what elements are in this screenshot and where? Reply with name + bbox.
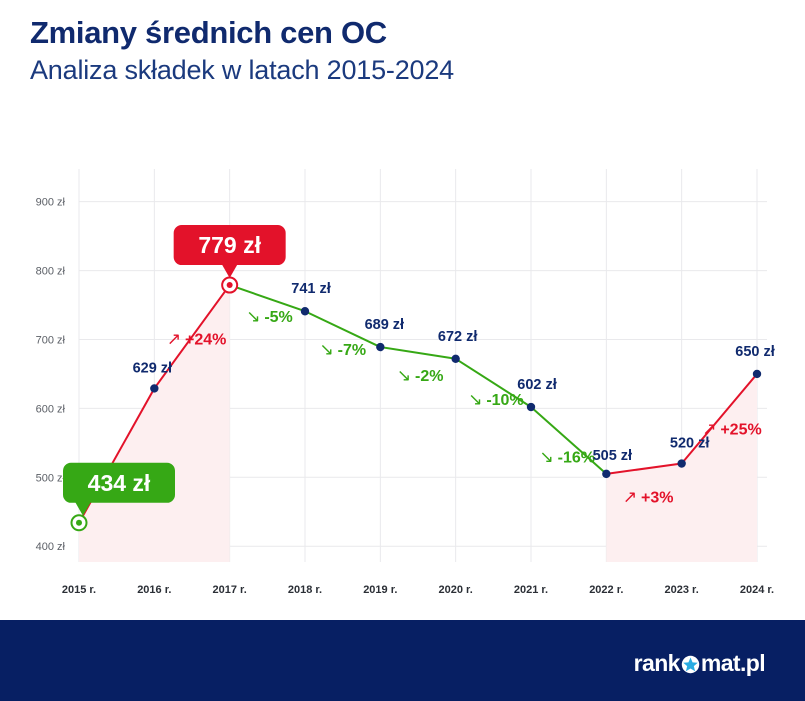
y-axis-tick-label: 400 zł	[36, 541, 66, 553]
chart-container: 400 zł500 zł600 zł700 zł800 zł900 zł↗+45…	[0, 120, 805, 620]
arrow-down-icon: ↘	[468, 390, 482, 410]
data-point-label: 672 zł	[438, 329, 478, 345]
data-point-label: 520 zł	[670, 436, 710, 452]
data-point-label: 689 zł	[365, 317, 405, 333]
change-percent-label: -2%	[415, 368, 443, 385]
data-point-marker[interactable]	[376, 343, 384, 351]
page-title: Zmiany średnich cen OC	[30, 16, 770, 51]
header: Zmiany średnich cen OC Analiza składek w…	[30, 16, 770, 87]
x-axis-tick-label: 2024 r.	[740, 584, 774, 596]
data-point-marker[interactable]	[753, 370, 761, 378]
data-point-marker[interactable]	[150, 384, 158, 392]
segment-change-annotation: ↘-10%	[468, 390, 523, 410]
highlight-point-core	[76, 520, 82, 526]
change-percent-label: -16%	[558, 449, 595, 466]
highlight-point-core	[227, 282, 233, 288]
y-axis-tick-label: 600 zł	[36, 403, 66, 415]
logo-text-first: rank	[634, 650, 680, 677]
arrow-up-icon: ↗	[167, 330, 181, 350]
data-point-marker[interactable]	[677, 459, 685, 467]
x-axis-tick-label: 2023 r.	[665, 584, 699, 596]
segment-change-annotation: ↗+24%	[167, 330, 227, 350]
segment-change-annotation: ↘-5%	[246, 307, 293, 327]
rankomat-logo[interactable]: rank mat.pl	[634, 650, 765, 677]
segment-change-annotation: ↗+25%	[702, 420, 762, 440]
arrow-down-icon: ↘	[540, 447, 554, 467]
segment-change-annotation: ↘-16%	[540, 447, 595, 467]
change-percent-label: +25%	[720, 422, 761, 439]
x-axis-tick-label: 2022 r.	[589, 584, 623, 596]
logo-text-second: mat.pl	[701, 650, 765, 677]
arrow-down-icon: ↘	[246, 307, 260, 327]
footer-bar: rank mat.pl	[0, 620, 805, 701]
change-percent-label: +24%	[185, 332, 226, 349]
data-point-label: 650 zł	[735, 344, 775, 360]
change-percent-label: -10%	[486, 392, 523, 409]
callout-value-label: 434 zł	[88, 470, 151, 496]
change-percent-label: +3%	[641, 490, 673, 507]
x-axis-tick-label: 2017 r.	[213, 584, 247, 596]
x-axis-tick-label: 2019 r.	[363, 584, 397, 596]
data-point-label: 505 zł	[593, 448, 633, 464]
data-point-label: 629 zł	[133, 360, 173, 376]
segment-change-annotation: ↘-2%	[397, 366, 444, 386]
x-axis-tick-label: 2018 r.	[288, 584, 322, 596]
data-point-marker[interactable]	[301, 307, 309, 315]
x-axis-tick-label: 2015 r.	[62, 584, 96, 596]
data-point-marker[interactable]	[527, 403, 535, 411]
arrow-up-icon: ↗	[623, 488, 637, 508]
star-icon	[681, 655, 700, 674]
infographic-root: Zmiany średnich cen OC Analiza składek w…	[0, 0, 805, 701]
change-percent-label: -5%	[264, 309, 292, 326]
data-point-label: 602 zł	[517, 377, 557, 393]
line-segment	[380, 347, 455, 359]
x-axis-tick-label: 2021 r.	[514, 584, 548, 596]
y-axis-tick-label: 500 zł	[36, 472, 66, 484]
data-point-label: 741 zł	[291, 281, 331, 297]
y-axis-tick-label: 700 zł	[36, 334, 66, 346]
y-axis-tick-label: 900 zł	[36, 197, 66, 209]
line-chart: 400 zł500 zł600 zł700 zł800 zł900 zł↗+45…	[0, 120, 805, 620]
x-axis-tick-label: 2020 r.	[439, 584, 473, 596]
data-point-marker[interactable]	[451, 355, 459, 363]
segment-change-annotation: ↘-7%	[320, 340, 367, 360]
data-point-marker[interactable]	[602, 470, 610, 478]
callout-value-label: 779 zł	[198, 232, 261, 258]
x-axis-tick-label: 2016 r.	[137, 584, 171, 596]
segment-change-annotation: ↗+3%	[623, 488, 674, 508]
page-subtitle: Analiza składek w latach 2015-2024	[30, 55, 770, 87]
arrow-down-icon: ↘	[320, 340, 334, 360]
y-axis-tick-label: 800 zł	[36, 266, 66, 278]
change-percent-label: -7%	[338, 342, 366, 359]
arrow-down-icon: ↘	[397, 366, 411, 386]
